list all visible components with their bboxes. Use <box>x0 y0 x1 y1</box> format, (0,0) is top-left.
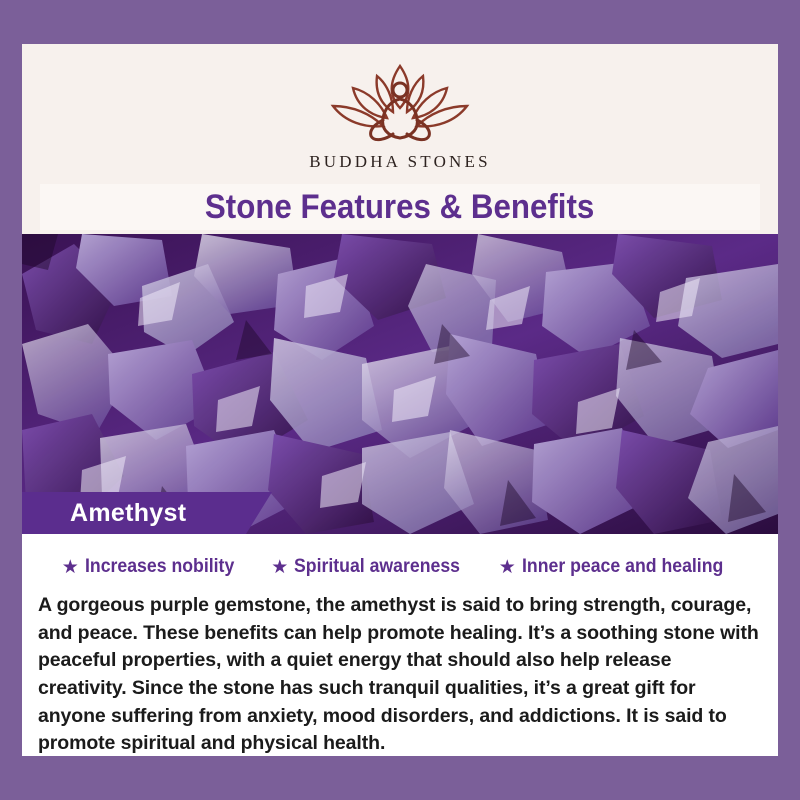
stone-label-banner: Amethyst <box>22 492 272 534</box>
brand-logo: BUDDHA STONES <box>22 58 778 172</box>
frame-right-accent <box>778 0 800 800</box>
lotus-meditation-icon <box>315 58 485 150</box>
frame-top-accent <box>140 0 800 48</box>
feature-list: ★ Increases nobility ★ Spiritual awarene… <box>22 534 778 578</box>
star-icon: ★ <box>499 558 516 577</box>
description-panel: ★ Increases nobility ★ Spiritual awarene… <box>22 534 778 756</box>
feature-item-1: ★ Increases nobility <box>62 556 246 578</box>
star-icon: ★ <box>271 558 288 577</box>
page-title: Stone Features & Benefits <box>205 188 594 227</box>
stone-name: Amethyst <box>70 499 186 528</box>
feature-label: Increases nobility <box>85 556 234 578</box>
brand-header: BUDDHA STONES Stone Features & Benefits <box>22 44 778 234</box>
feature-item-2: ★ Spiritual awareness <box>271 556 473 578</box>
title-band: Stone Features & Benefits <box>40 184 760 230</box>
feature-item-3: ★ Inner peace and healing <box>499 556 739 578</box>
stone-photo: Amethyst <box>22 234 778 534</box>
amethyst-cluster-image <box>22 234 778 534</box>
content-canvas: BUDDHA STONES Stone Features & Benefits <box>22 44 778 756</box>
frame-bottom-accent <box>0 752 620 800</box>
brand-name: BUDDHA STONES <box>309 152 491 172</box>
star-icon: ★ <box>62 558 79 577</box>
feature-label: Inner peace and healing <box>522 556 723 578</box>
frame-left-accent <box>0 0 22 800</box>
feature-label: Spiritual awareness <box>294 556 460 578</box>
description-text: A gorgeous purple gemstone, the amethyst… <box>38 592 762 756</box>
poster: BUDDHA STONES Stone Features & Benefits <box>0 0 800 800</box>
